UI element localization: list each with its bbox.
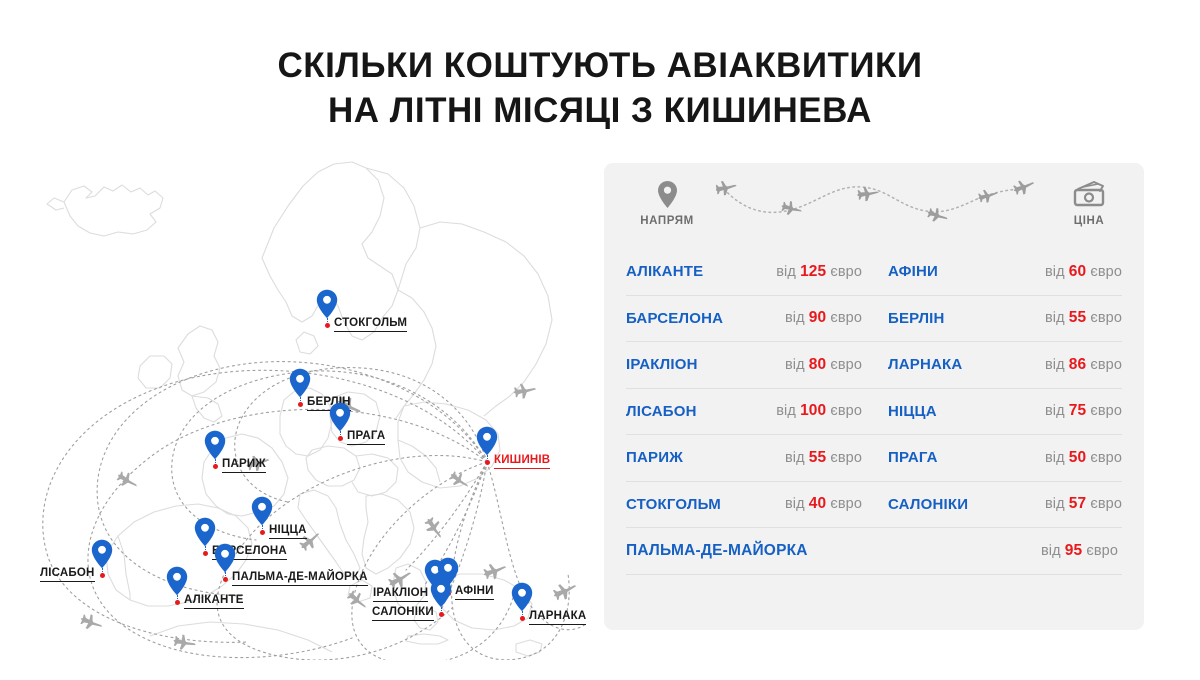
destination-header-label: НАПРЯМ [622, 215, 712, 227]
table-row: БАРСЕЛОНАвід 90 євроБЕРЛІНвід 55 євро [626, 296, 1122, 343]
row-1-right-amount: 55 [1069, 309, 1086, 326]
map-label-ларнака: ЛАРНАКА [529, 610, 586, 625]
row-2-left-amount: 80 [809, 356, 826, 373]
row-5-right-city[interactable]: САЛОНІКИ [888, 496, 968, 513]
map-label-пальма-де-майорка: ПАЛЬМА-ДЕ-МАЙОРКА [232, 571, 368, 586]
map-label-аліканте: АЛІКАНТЕ [184, 594, 244, 609]
price-header: ЦІНА [1044, 177, 1134, 227]
list-item[interactable]: БАРСЕЛОНАвід 90 євро [626, 296, 874, 343]
row-2-right-amount: 86 [1069, 356, 1086, 373]
list-item[interactable]: СТОКГОЛЬМвід 40 євро [626, 482, 874, 529]
map-label-іракліон: ІРАКЛІОН [373, 587, 428, 602]
list-item[interactable]: ПАРИЖвід 55 євро [626, 435, 874, 482]
row-4-left-amount: 55 [809, 449, 826, 466]
row-1-left-city[interactable]: БАРСЕЛОНА [626, 310, 723, 327]
map-label-берлін: БЕРЛІН [307, 396, 351, 411]
map-label-лісабон: ЛІСАБОН [40, 567, 95, 582]
table-row: СТОКГОЛЬМвід 40 євроСАЛОНІКИвід 57 євро [626, 482, 1122, 529]
map-dot-берлін [298, 402, 303, 407]
row-4-right-amount: 50 [1069, 449, 1086, 466]
row-5-left-city[interactable]: СТОКГОЛЬМ [626, 496, 721, 513]
page-title: СКІЛЬКИ КОШТУЮТЬ АВІАКВИТИКИ НА ЛІТНІ МІ… [0, 44, 1200, 134]
map-dot-лісабон [100, 573, 105, 578]
dotted-flight-path-icon [716, 177, 1034, 225]
row-0-right-city[interactable]: АФІНИ [888, 263, 938, 280]
row-2-left-city[interactable]: ІРАКЛІОН [626, 356, 698, 373]
map-label-париж: ПАРИЖ [222, 458, 266, 473]
table-row: ІРАКЛІОНвід 80 євроЛАРНАКАвід 86 євро [626, 342, 1122, 389]
wallet-money-icon [1044, 177, 1134, 211]
map-label-салоніки: САЛОНІКИ [372, 606, 434, 621]
row-5-left-price: від 40 євро [785, 495, 862, 513]
row-4-left-city[interactable]: ПАРИЖ [626, 449, 683, 466]
map-dot-пальма-де-майорка [223, 577, 228, 582]
map-dot-аліканте [175, 600, 180, 605]
map-dot-стокгольм [325, 323, 330, 328]
list-item[interactable]: АФІНИвід 60 євро [874, 249, 1122, 296]
map-label-афіни: АФІНИ [455, 585, 494, 600]
row-0-left-price: від 125 євро [776, 263, 862, 281]
row-1-right-city[interactable]: БЕРЛІН [888, 310, 945, 327]
row-3-left-amount: 100 [800, 402, 826, 419]
row-5-left-amount: 40 [809, 495, 826, 512]
table-row: ПАЛЬМА-ДЕ-МАЙОРКАвід 95 євро [626, 528, 1122, 575]
map-label-прага: ПРАГА [347, 430, 385, 445]
list-item[interactable]: ПРАГАвід 50 євро [874, 435, 1122, 482]
price-panel: НАПРЯМ [604, 163, 1144, 630]
row-3-left-city[interactable]: ЛІСАБОН [626, 403, 697, 420]
list-item[interactable]: НІЦЦАвід 75 євро [874, 389, 1122, 436]
map-dot-ніцца [260, 530, 265, 535]
list-item[interactable]: ІРАКЛІОНвід 80 євро [626, 342, 874, 389]
destination-header: НАПРЯМ [622, 177, 712, 227]
map-dot-афіни [446, 591, 451, 596]
location-pin-icon [622, 177, 712, 211]
row-0-right-price: від 60 євро [1045, 263, 1122, 281]
row-2-right-price: від 86 євро [1045, 356, 1122, 374]
map-label-стокгольм: СТОКГОЛЬМ [334, 317, 407, 332]
row-2-right-city[interactable]: ЛАРНАКА [888, 356, 962, 373]
row-4-right-price: від 50 євро [1045, 449, 1122, 467]
table-row: ПАРИЖвід 55 євроПРАГАвід 50 євро [626, 435, 1122, 482]
map-dot-кишинів [485, 460, 490, 465]
row-1-right-price: від 55 євро [1045, 309, 1122, 327]
list-item[interactable]: ЛІСАБОНвід 100 євро [626, 389, 874, 436]
row-full-price: від 95 євро [1041, 542, 1118, 560]
map-dot-париж [213, 464, 218, 469]
row-1-left-price: від 90 євро [785, 309, 862, 327]
list-item[interactable]: БЕРЛІНвід 55 євро [874, 296, 1122, 343]
row-3-right-city[interactable]: НІЦЦА [888, 403, 937, 420]
map-dot-ларнака [520, 616, 525, 621]
row-3-right-amount: 75 [1069, 402, 1086, 419]
row-0-left-amount: 125 [800, 263, 826, 280]
row-1-left-amount: 90 [809, 309, 826, 326]
row-full-city[interactable]: ПАЛЬМА-ДЕ-МАЙОРКА [626, 542, 808, 560]
map-label-кишинів: КИШИНІВ [494, 454, 550, 469]
row-full-amount: 95 [1065, 542, 1082, 559]
row-3-left-price: від 100 євро [776, 402, 862, 420]
row-4-left-price: від 55 євро [785, 449, 862, 467]
map-dot-іракліон [433, 593, 438, 598]
europe-map: СТОКГОЛЬМБЕРЛІНПРАГАПАРИЖНІЦЦАБАРСЕЛОНАЛ… [0, 150, 600, 660]
price-rows: АЛІКАНТЕвід 125 євроАФІНИвід 60 євроБАРС… [626, 249, 1122, 575]
page-title-line-1: СКІЛЬКИ КОШТУЮТЬ АВІАКВИТИКИ [0, 44, 1200, 89]
map-dot-салоніки [439, 612, 444, 617]
row-5-right-amount: 57 [1069, 495, 1086, 512]
map-label-барселона: БАРСЕЛОНА [212, 545, 287, 560]
table-row: ЛІСАБОНвід 100 євроНІЦЦАвід 75 євро [626, 389, 1122, 436]
list-item[interactable]: АЛІКАНТЕвід 125 євро [626, 249, 874, 296]
price-header-label: ЦІНА [1044, 215, 1134, 227]
map-dot-прага [338, 436, 343, 441]
map-label-ніцца: НІЦЦА [269, 524, 307, 539]
row-5-right-price: від 57 євро [1045, 495, 1122, 513]
row-0-right-amount: 60 [1069, 263, 1086, 280]
page-title-line-2: НА ЛІТНІ МІСЯЦІ З КИШИНЕВА [0, 89, 1200, 134]
table-row: АЛІКАНТЕвід 125 євроАФІНИвід 60 євро [626, 249, 1122, 296]
row-2-left-price: від 80 євро [785, 356, 862, 374]
row-0-left-city[interactable]: АЛІКАНТЕ [626, 263, 703, 280]
row-3-right-price: від 75 євро [1045, 402, 1122, 420]
list-item[interactable]: САЛОНІКИвід 57 євро [874, 482, 1122, 529]
list-item[interactable]: ПАЛЬМА-ДЕ-МАЙОРКАвід 95 євро [626, 528, 1122, 575]
row-4-right-city[interactable]: ПРАГА [888, 449, 938, 466]
panel-header: НАПРЯМ [604, 163, 1144, 249]
list-item[interactable]: ЛАРНАКАвід 86 євро [874, 342, 1122, 389]
map-dot-барселона [203, 551, 208, 556]
